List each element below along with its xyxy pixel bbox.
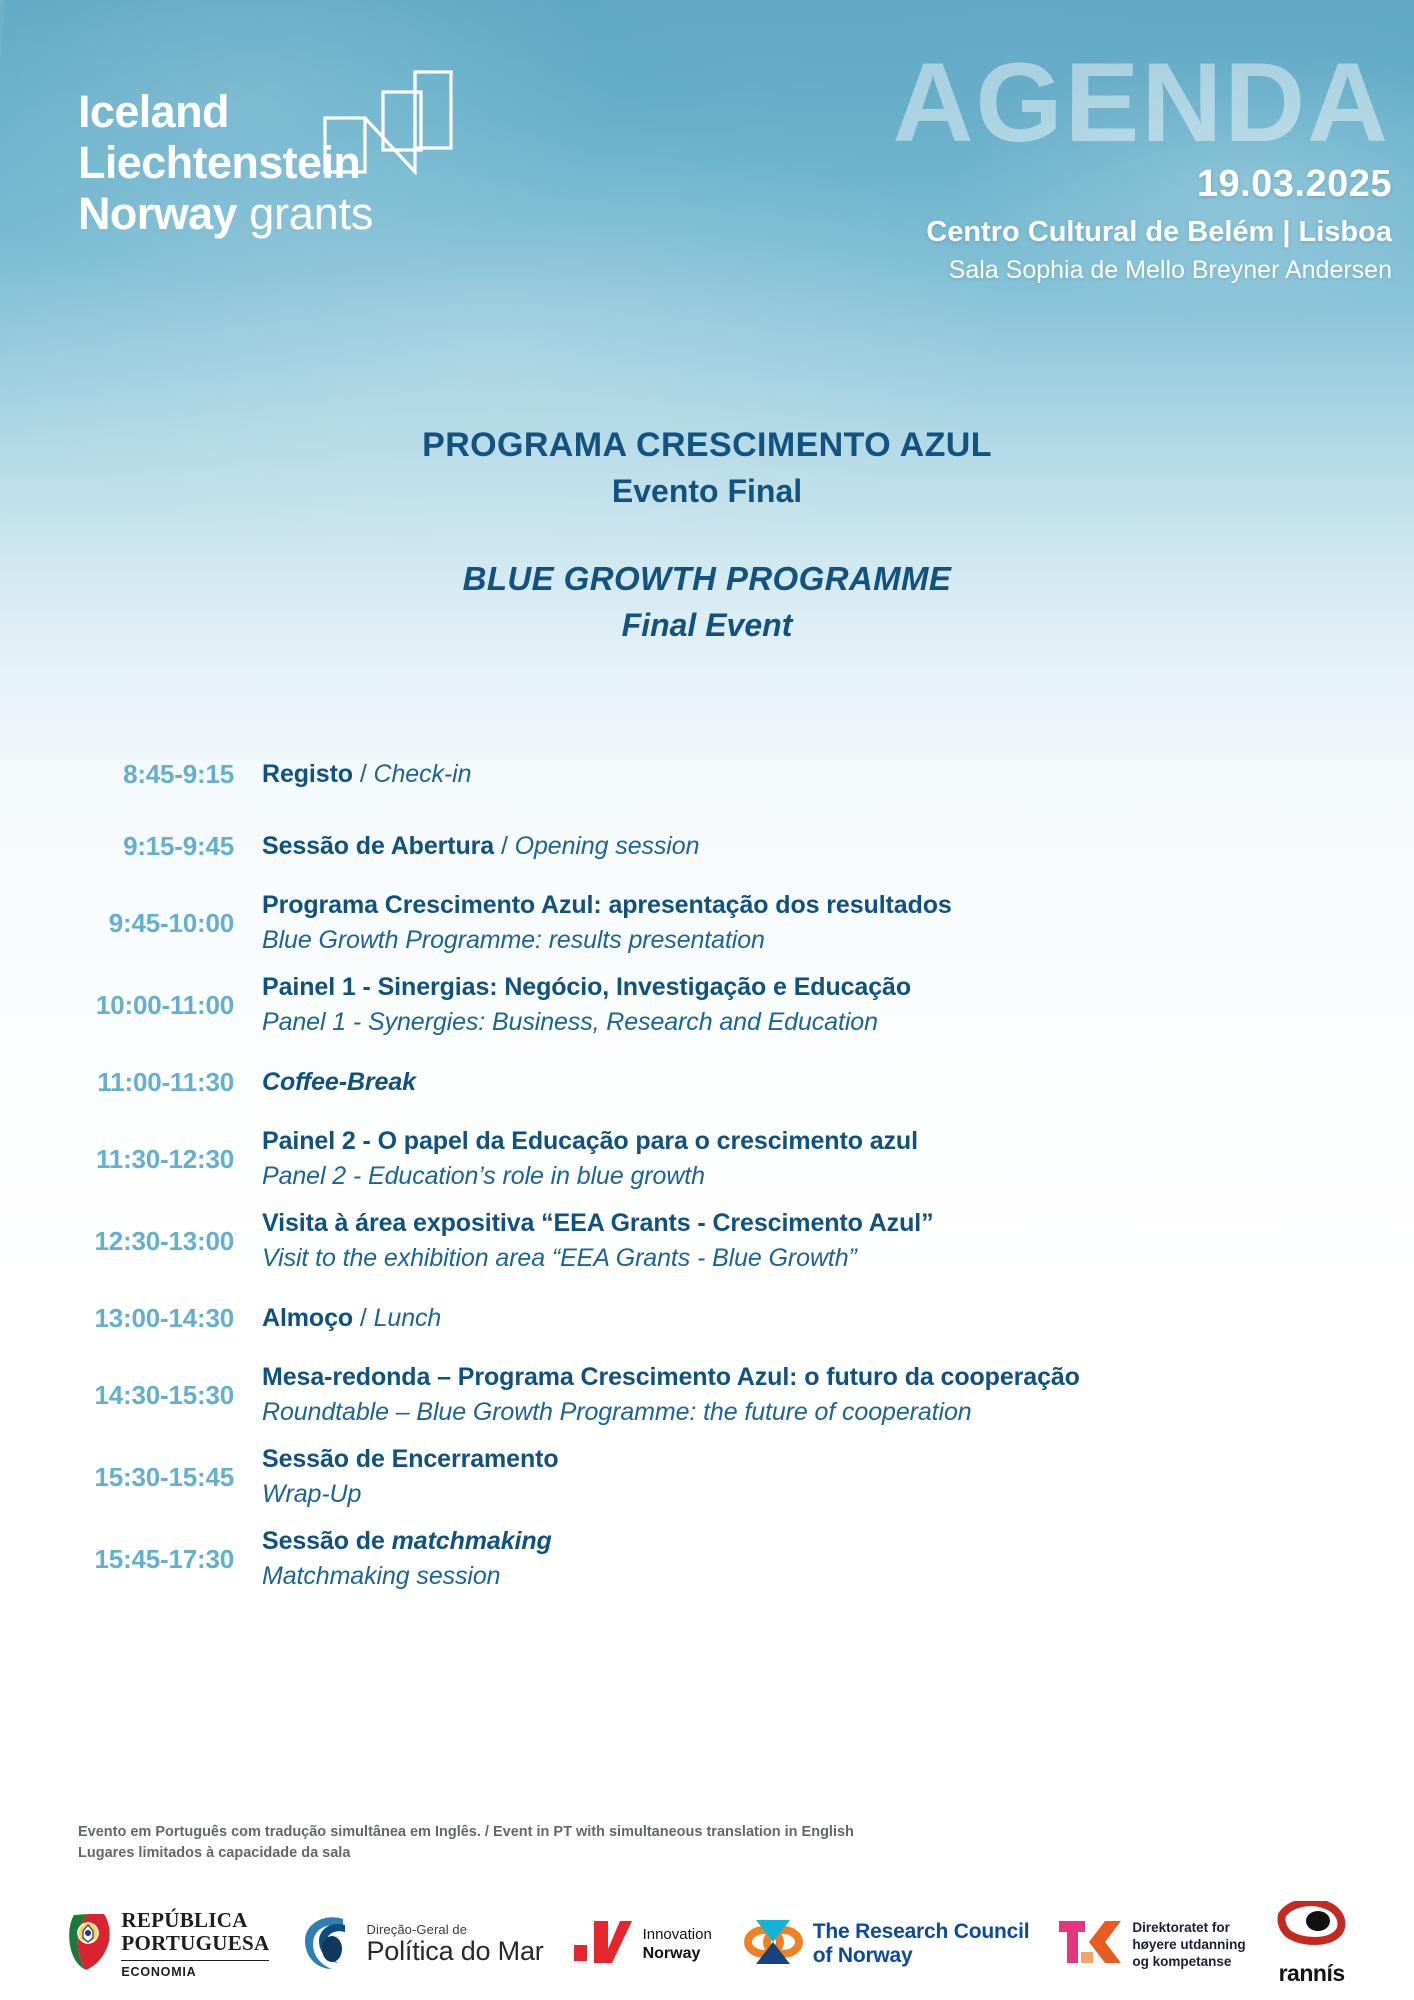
agenda-row-title-pt-text: Painel 1 - Sinergias: Negócio, Investiga… bbox=[262, 973, 911, 1001]
title-en-primary: BLUE GROWTH PROGRAMME bbox=[0, 556, 1414, 602]
agenda-row-title-pt: Coffee-Break bbox=[262, 1066, 1384, 1099]
agenda-row-title-en: Visit to the exhibition area “EEA Grants… bbox=[262, 1242, 1384, 1275]
agenda-schedule-list: 8:45-9:15Registo / Check-in9:15-9:45Sess… bbox=[0, 738, 1414, 1600]
logo-innovation-norway: Innovation Norway bbox=[574, 1919, 712, 1970]
agenda-row-title-en-inline: Lunch bbox=[374, 1304, 442, 1332]
agenda-row-title-pt-text: Mesa-redonda – Programa Crescimento Azul… bbox=[262, 1363, 1080, 1391]
agenda-row-title-pt: Painel 2 - O papel da Educação para o cr… bbox=[262, 1125, 1384, 1158]
agenda-row-separator: / bbox=[353, 1304, 374, 1332]
agenda-row-texts: Registo / Check-in bbox=[262, 758, 1414, 791]
agenda-row-separator: / bbox=[353, 760, 374, 788]
hk-text: Direktoratet for høyere utdanning og kom… bbox=[1132, 1919, 1245, 1970]
agenda-row-title-pt: Registo / Check-in bbox=[262, 758, 1384, 791]
hk-line-1: Direktoratet for bbox=[1132, 1919, 1245, 1936]
hk-line-2: høyere utdanning bbox=[1132, 1936, 1245, 1953]
programme-titles: PROGRAMA CRESCIMENTO AZUL Evento Final B… bbox=[0, 422, 1414, 648]
title-pt-secondary: Evento Final bbox=[0, 468, 1414, 514]
agenda-row-title-en: Panel 1 - Synergies: Business, Research … bbox=[262, 1006, 1384, 1039]
event-date: 19.03.2025 bbox=[632, 162, 1392, 206]
agenda-row-time: 11:00-11:30 bbox=[0, 1067, 262, 1098]
agenda-row-title-en-inline: Opening session bbox=[515, 832, 700, 860]
republica-line-1: REPÚBLICA bbox=[121, 1909, 269, 1932]
agenda-row-title-pt-text: Sessão de bbox=[262, 1527, 392, 1555]
agenda-row-title-pt: Sessão de Abertura / Opening session bbox=[262, 830, 1384, 863]
rannis-eye-icon bbox=[1276, 1901, 1348, 1950]
agenda-row-title-pt: Programa Crescimento Azul: apresentação … bbox=[262, 889, 1384, 922]
agenda-row-texts: Programa Crescimento Azul: apresentação … bbox=[262, 889, 1414, 957]
agenda-row-title-en: Matchmaking session bbox=[262, 1560, 1384, 1593]
agenda-row: 15:45-17:30Sessão de matchmakingMatchmak… bbox=[0, 1518, 1414, 1600]
agenda-row-texts: Visita à área expositiva “EEA Grants - C… bbox=[262, 1207, 1414, 1275]
agenda-row-time: 12:30-13:00 bbox=[0, 1226, 262, 1257]
logo-line-norway-grants: Norway grants bbox=[78, 188, 498, 239]
agenda-row-time: 15:30-15:45 bbox=[0, 1462, 262, 1493]
dgpm-line-small: Direção-Geral de bbox=[366, 1923, 543, 1936]
title-en-secondary: Final Event bbox=[0, 602, 1414, 648]
agenda-row-title-pt: Sessão de Encerramento bbox=[262, 1443, 1384, 1476]
innovation-norway-text: Innovation Norway bbox=[643, 1925, 712, 1964]
agenda-row: 12:30-13:00Visita à área expositiva “EEA… bbox=[0, 1200, 1414, 1282]
agenda-row-title-pt-text: Programa Crescimento Azul: apresentação … bbox=[262, 891, 952, 919]
agenda-row-title-pt-text: Sessão de Encerramento bbox=[262, 1445, 559, 1473]
hk-line-3: og kompetanse bbox=[1132, 1953, 1245, 1970]
logo-norway-text: Norway bbox=[78, 188, 237, 239]
agenda-row: 10:00-11:00Painel 1 - Sinergias: Negócio… bbox=[0, 964, 1414, 1046]
agenda-row-title-pt: Mesa-redonda – Programa Crescimento Azul… bbox=[262, 1361, 1384, 1394]
innovation-norway-line-2: Norway bbox=[643, 1944, 712, 1964]
agenda-row-texts: Mesa-redonda – Programa Crescimento Azul… bbox=[262, 1361, 1414, 1429]
dgpm-wave-icon bbox=[299, 1911, 357, 1978]
agenda-row: 8:45-9:15Registo / Check-in bbox=[0, 738, 1414, 810]
agenda-row-title-en: Blue Growth Programme: results presentat… bbox=[262, 924, 1384, 957]
agenda-row-title-en: Panel 2 - Education’s role in blue growt… bbox=[262, 1160, 1384, 1193]
agenda-row-texts: Painel 1 - Sinergias: Negócio, Investiga… bbox=[262, 971, 1414, 1039]
agenda-row-title-pt-text: Painel 2 - O papel da Educação para o cr… bbox=[262, 1127, 918, 1155]
agenda-row-time: 15:45-17:30 bbox=[0, 1544, 262, 1575]
research-council-line-1: The Research Council bbox=[813, 1920, 1030, 1944]
research-council-mark-icon bbox=[742, 1914, 804, 1975]
agenda-row-title-pt-text: Almoço bbox=[262, 1304, 353, 1332]
agenda-row-texts: Sessão de Abertura / Opening session bbox=[262, 830, 1414, 863]
innovation-norway-mark-icon bbox=[574, 1919, 634, 1970]
agenda-row: 11:30-12:30Painel 2 - O papel da Educaçã… bbox=[0, 1118, 1414, 1200]
agenda-row-title-en-inline: Check-in bbox=[374, 760, 472, 788]
hk-mark-icon bbox=[1059, 1919, 1123, 1970]
event-venue: Centro Cultural de Belém | Lisboa bbox=[632, 212, 1392, 252]
agenda-poster: Iceland Liechtenstein Norway grants AGEN… bbox=[0, 0, 1414, 2000]
agenda-row-title-pt: Visita à área expositiva “EEA Grants - C… bbox=[262, 1207, 1384, 1240]
agenda-wordmark: AGENDA bbox=[893, 47, 1390, 159]
research-council-text: The Research Council of Norway bbox=[813, 1920, 1030, 1968]
agenda-row: 11:00-11:30Coffee-Break bbox=[0, 1046, 1414, 1118]
agenda-row-texts: Sessão de EncerramentoWrap-Up bbox=[262, 1443, 1414, 1511]
agenda-row: 13:00-14:30Almoço / Lunch bbox=[0, 1282, 1414, 1354]
agenda-row-time: 9:45-10:00 bbox=[0, 908, 262, 939]
event-room: Sala Sophia de Mello Breyner Andersen bbox=[632, 253, 1392, 287]
agenda-row-separator: / bbox=[494, 832, 515, 860]
agenda-row-time: 11:30-12:30 bbox=[0, 1144, 262, 1175]
dgpm-line-big: Política do Mar bbox=[366, 1937, 543, 1966]
republica-divider bbox=[121, 1960, 269, 1961]
portugal-shield-icon bbox=[66, 1911, 112, 1978]
footnote-block: Evento em Português com tradução simultâ… bbox=[78, 1822, 854, 1864]
grants-mark-icon bbox=[323, 70, 453, 180]
republica-department: ECONOMIA bbox=[121, 1966, 269, 1979]
partner-logos-strip: REPÚBLICA PORTUGUESA ECONOMIA Direção-Ge… bbox=[0, 1888, 1414, 2000]
republica-line-2: PORTUGUESA bbox=[121, 1932, 269, 1955]
agenda-row-title-pt-emphasis: matchmaking bbox=[392, 1527, 552, 1555]
agenda-row-texts: Painel 2 - O papel da Educação para o cr… bbox=[262, 1125, 1414, 1193]
agenda-row-title-pt-text: Sessão de Abertura bbox=[262, 832, 494, 860]
agenda-row-title-en: Roundtable – Blue Growth Programme: the … bbox=[262, 1396, 1384, 1429]
innovation-norway-line-1: Innovation bbox=[643, 1925, 712, 1944]
agenda-row: 9:15-9:45Sessão de Abertura / Opening se… bbox=[0, 810, 1414, 882]
agenda-row-title-pt-text: Coffee-Break bbox=[262, 1068, 416, 1096]
agenda-row-title-pt-text: Registo bbox=[262, 760, 353, 788]
agenda-row: 9:45-10:00Programa Crescimento Azul: apr… bbox=[0, 882, 1414, 964]
agenda-row-title-pt: Painel 1 - Sinergias: Negócio, Investiga… bbox=[262, 971, 1384, 1004]
agenda-row-title-pt: Sessão de matchmaking bbox=[262, 1525, 1384, 1558]
rannis-wordmark: rannís bbox=[1279, 1960, 1345, 1987]
footnote-line-1: Evento em Português com tradução simultâ… bbox=[78, 1822, 854, 1843]
republica-text: REPÚBLICA PORTUGUESA ECONOMIA bbox=[121, 1909, 269, 1979]
title-pt-primary: PROGRAMA CRESCIMENTO AZUL bbox=[0, 422, 1414, 468]
agenda-row-title-pt-text: Visita à área expositiva “EEA Grants - C… bbox=[262, 1209, 934, 1237]
logo-republica-portuguesa: REPÚBLICA PORTUGUESA ECONOMIA bbox=[66, 1909, 269, 1979]
dgpm-text: Direção-Geral de Política do Mar bbox=[366, 1923, 543, 1966]
eea-norway-grants-logo: Iceland Liechtenstein Norway grants bbox=[78, 86, 498, 239]
agenda-row-texts: Coffee-Break bbox=[262, 1066, 1414, 1099]
research-council-line-2: of Norway bbox=[813, 1944, 1030, 1968]
agenda-row-time: 13:00-14:30 bbox=[0, 1303, 262, 1334]
logo-hk-direktoratet: Direktoratet for høyere utdanning og kom… bbox=[1059, 1919, 1245, 1970]
agenda-row-time: 14:30-15:30 bbox=[0, 1380, 262, 1411]
agenda-row-time: 9:15-9:45 bbox=[0, 831, 262, 862]
agenda-row: 15:30-15:45Sessão de EncerramentoWrap-Up bbox=[0, 1436, 1414, 1518]
event-meta-block: 19.03.2025 Centro Cultural de Belém | Li… bbox=[632, 162, 1392, 287]
logo-research-council-norway: The Research Council of Norway bbox=[742, 1914, 1030, 1975]
agenda-row-texts: Sessão de matchmakingMatchmaking session bbox=[262, 1525, 1414, 1593]
agenda-row-title-pt: Almoço / Lunch bbox=[262, 1302, 1384, 1335]
agenda-row-time: 10:00-11:00 bbox=[0, 990, 262, 1021]
agenda-row-texts: Almoço / Lunch bbox=[262, 1302, 1414, 1335]
agenda-row: 14:30-15:30Mesa-redonda – Programa Cresc… bbox=[0, 1354, 1414, 1436]
agenda-row-time: 8:45-9:15 bbox=[0, 759, 262, 790]
logo-dgpm: Direção-Geral de Política do Mar bbox=[299, 1911, 543, 1978]
agenda-row-title-en: Wrap-Up bbox=[262, 1478, 1384, 1511]
footnote-line-2: Lugares limitados à capacidade da sala bbox=[78, 1843, 854, 1864]
logo-grants-text: grants bbox=[237, 188, 373, 239]
logo-rannis: rannís bbox=[1276, 1901, 1348, 1987]
